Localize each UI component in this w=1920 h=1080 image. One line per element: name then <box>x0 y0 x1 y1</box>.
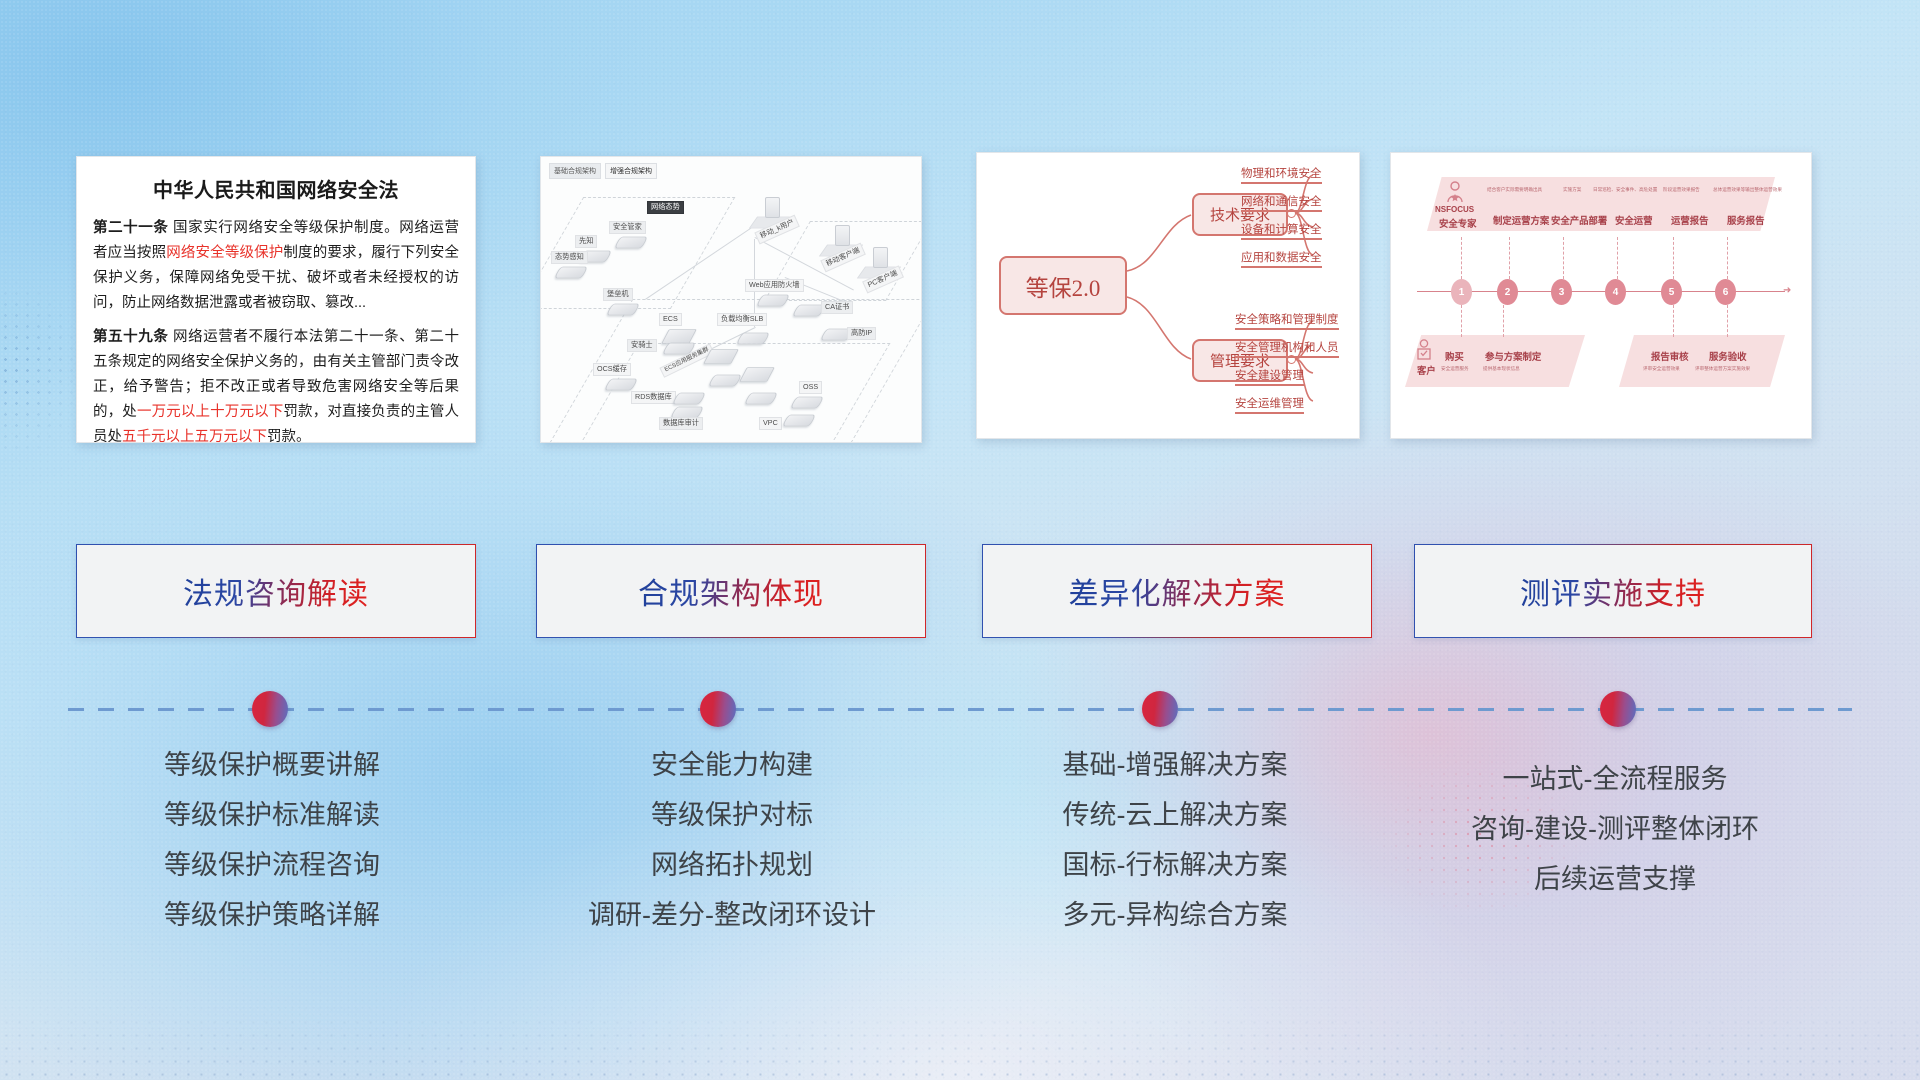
law-paragraph: 第五十九条 网络运营者不履行本法第二十一条、第二十五条规定的网络安全保护义务的，… <box>93 325 459 443</box>
category-button-differentiated-solution[interactable]: 差异化解决方案 <box>982 544 1372 638</box>
service-list-item: 国标-行标解决方案 <box>968 840 1382 890</box>
node-label: 安全管家 <box>609 221 646 234</box>
step-minor: 评审安全运营效果 <box>1643 366 1680 372</box>
service-list-item: 调研-差分-整改闭环设计 <box>530 890 934 940</box>
service-list-item: 等级保护流程咨询 <box>70 840 474 890</box>
step-major: 服务报告 <box>1727 213 1765 227</box>
timeline-connector <box>1461 305 1462 337</box>
node-label: 态势感知 <box>551 251 588 264</box>
service-list-item: 基础-增强解决方案 <box>968 740 1382 790</box>
timeline-connector <box>1727 237 1728 279</box>
expert-avatar-icon <box>1445 181 1465 203</box>
timeline-step-2[interactable]: 2 <box>1497 279 1518 305</box>
category-buttons-row: 法规咨询解读 合规架构体现 差异化解决方案 测评实施支持 <box>0 544 1920 640</box>
step-minor: 实施方案 <box>1563 187 1581 193</box>
timeline-connector <box>1673 305 1674 337</box>
expert-role-line1: NSFOCUS <box>1435 205 1474 214</box>
law-article-number: 第五十九条 <box>93 329 168 345</box>
nsfocus-timeline: NSFOCUS 安全专家 结合客户实际需要明确出具 制定运营方案 实施方案 安全… <box>1391 153 1811 438</box>
mindmap-leaf: 网络和通信安全 <box>1241 193 1322 212</box>
card-compliance-architecture[interactable]: 基础合规架构 增强合规架构 网络态势 安全 <box>540 156 922 443</box>
service-list-item: 咨询-建设-测评整体闭环 <box>1410 804 1820 854</box>
category-button-label: 测评实施支持 <box>1520 569 1706 613</box>
card-dengbao-mindmap[interactable]: 等保2.0 技术要求 管理要求 物理和环境安全 网络和通信安全 设备和计算安全 … <box>976 152 1360 439</box>
node-label: ECS <box>659 313 682 326</box>
step-major: 服务验收 <box>1709 349 1747 363</box>
service-lists-row: 等级保护概要讲解 等级保护标准解读 等级保护流程咨询 等级保护策略详解 安全能力… <box>0 740 1920 990</box>
timeline-connector <box>1673 237 1674 279</box>
step-minor: 日常巡检、安全事件、高危处置 <box>1593 187 1657 193</box>
service-list-regulation-consulting: 等级保护概要讲解 等级保护标准解读 等级保护流程咨询 等级保护策略详解 <box>70 740 474 940</box>
timeline-step-6[interactable]: 6 <box>1715 279 1736 305</box>
timeline-arrow-icon: ➜ <box>1783 286 1791 296</box>
category-button-compliance-architecture[interactable]: 合规架构体现 <box>536 544 926 638</box>
service-list-differentiated-solution: 基础-增强解决方案 传统-云上解决方案 国标-行标解决方案 多元-异构综合方案 <box>968 740 1382 940</box>
preview-cards-row: 中华人民共和国网络安全法 第二十一条 国家实行网络安全等级保护制度。网络运营者应… <box>0 0 1920 460</box>
timeline-connector-row <box>0 690 1920 730</box>
node-label: OCS缓存 <box>593 363 631 376</box>
decorative-dots-bottom <box>0 990 1920 1080</box>
node-label: 堡垒机 <box>603 288 633 301</box>
step-major: 安全运营 <box>1615 213 1653 227</box>
mindmap-leaf: 安全管理机构和人员 <box>1235 339 1339 358</box>
timeline-node-2[interactable] <box>700 691 736 727</box>
step-minor: 安全运营服务 <box>1441 366 1469 372</box>
step-major: 运营报告 <box>1671 213 1709 227</box>
timeline-step-3[interactable]: 3 <box>1551 279 1572 305</box>
node-label: 数据库审计 <box>659 417 703 430</box>
law-run: 罚款。 <box>267 429 311 443</box>
timeline-node-3[interactable] <box>1142 691 1178 727</box>
node-label: Web应用防火墙 <box>745 279 804 292</box>
timeline-connector <box>1727 305 1728 337</box>
step-minor: 结合客户实际需要明确出具 <box>1487 187 1542 193</box>
service-list-assessment-support: 一站式-全流程服务 咨询-建设-测评整体闭环 后续运营支撑 <box>1410 754 1820 904</box>
mindmap-root-node[interactable]: 等保2.0 <box>999 256 1127 315</box>
timeline-step-1[interactable]: 1 <box>1451 279 1472 305</box>
customer-avatar-icon <box>1415 339 1433 361</box>
category-button-assessment-support[interactable]: 测评实施支持 <box>1414 544 1812 638</box>
mindmap-leaf: 物理和环境安全 <box>1241 165 1322 184</box>
mindmap-leaf: 安全策略和管理制度 <box>1235 311 1339 330</box>
mindmap-leaf: 应用和数据安全 <box>1241 249 1322 268</box>
service-list-item: 安全能力构建 <box>530 740 934 790</box>
service-list-item: 等级保护策略详解 <box>70 890 474 940</box>
node-label: 网络态势 <box>647 201 684 214</box>
mindmap-leaf: 安全运维管理 <box>1235 395 1304 414</box>
timeline-connector <box>1563 237 1564 279</box>
step-major: 参与方案制定 <box>1485 349 1541 363</box>
node-label: 高防IP <box>847 327 876 340</box>
card-cybersecurity-law[interactable]: 中华人民共和国网络安全法 第二十一条 国家实行网络安全等级保护制度。网络运营者应… <box>76 156 476 443</box>
category-button-label: 法规咨询解读 <box>183 569 369 613</box>
expert-role-line2: 安全专家 <box>1439 216 1477 230</box>
node-label: 负载均衡SLB <box>717 313 767 326</box>
card-nsfocus-timeline[interactable]: NSFOCUS 安全专家 结合客户实际需要明确出具 制定运营方案 实施方案 安全… <box>1390 152 1812 439</box>
mindmap-leaf: 安全建设管理 <box>1235 367 1304 386</box>
step-minor: 评审整体运营方案实施效果 <box>1695 366 1750 372</box>
architecture-diagram: 基础合规架构 增强合规架构 网络态势 安全 <box>541 157 921 442</box>
timeline-band-customer-right <box>1619 335 1785 387</box>
mindmap-leaf: 设备和计算安全 <box>1241 221 1322 240</box>
timeline-connector <box>1503 305 1504 337</box>
law-run-highlight: 网络安全等级保护 <box>166 245 283 261</box>
node-label: 先知 <box>575 235 597 248</box>
law-title: 中华人民共和国网络安全法 <box>77 174 475 203</box>
node-label: 安骑士 <box>627 339 657 352</box>
step-major: 制定运营方案 <box>1493 213 1549 227</box>
service-list-item: 等级保护标准解读 <box>70 790 474 840</box>
timeline-connector <box>1461 237 1462 279</box>
law-article-number: 第二十一条 <box>93 220 168 236</box>
law-run-highlight: 五千元以上五万元以下 <box>122 429 267 443</box>
timeline-connector <box>1617 237 1618 279</box>
node-label: OSS <box>799 381 822 394</box>
service-list-item: 等级保护对标 <box>530 790 934 840</box>
mindmap: 等保2.0 技术要求 管理要求 物理和环境安全 网络和通信安全 设备和计算安全 … <box>977 153 1359 438</box>
step-minor: 提供基本现状信息 <box>1483 366 1520 372</box>
timeline-step-5[interactable]: 5 <box>1661 279 1682 305</box>
node-label: CA证书 <box>821 301 853 314</box>
step-minor: 阶段运营效果报告 <box>1663 187 1700 193</box>
service-list-item: 网络拓扑规划 <box>530 840 934 890</box>
node-label: RDS数据库 <box>631 391 676 404</box>
step-major: 报告审核 <box>1651 349 1689 363</box>
node-label: VPC <box>759 417 782 430</box>
service-list-item: 传统-云上解决方案 <box>968 790 1382 840</box>
service-list-item: 多元-异构综合方案 <box>968 890 1382 940</box>
timeline-step-4[interactable]: 4 <box>1605 279 1626 305</box>
customer-role-label: 客户 <box>1417 363 1436 377</box>
category-button-label: 差异化解决方案 <box>1069 569 1286 613</box>
timeline-node-1[interactable] <box>252 691 288 727</box>
service-list-item: 等级保护概要讲解 <box>70 740 474 790</box>
service-list-item: 一站式-全流程服务 <box>1410 754 1820 804</box>
timeline-node-4[interactable] <box>1600 691 1636 727</box>
category-button-label: 合规架构体现 <box>638 569 824 613</box>
service-list-item: 后续运营支撑 <box>1410 854 1820 904</box>
timeline-connector <box>1509 237 1510 279</box>
step-minor: 总体运营效果等输出整体运营效果 <box>1713 187 1782 193</box>
step-major: 购买 <box>1445 349 1464 363</box>
law-body: 第二十一条 国家实行网络安全等级保护制度。网络运营者应当按照网络安全等级保护制度… <box>77 216 475 443</box>
category-button-regulation-consulting[interactable]: 法规咨询解读 <box>76 544 476 638</box>
law-run-highlight: 一万元以上十万元以下 <box>137 404 283 420</box>
step-major: 安全产品部署 <box>1551 213 1607 227</box>
service-list-compliance-architecture: 安全能力构建 等级保护对标 网络拓扑规划 调研-差分-整改闭环设计 <box>530 740 934 940</box>
architecture-canvas: 网络态势 安全管家 先知 态势感知 堡垒机 <box>549 173 913 434</box>
timeline-dashed-line <box>68 708 1852 711</box>
law-paragraph: 第二十一条 国家实行网络安全等级保护制度。网络运营者应当按照网络安全等级保护制度… <box>93 216 459 316</box>
